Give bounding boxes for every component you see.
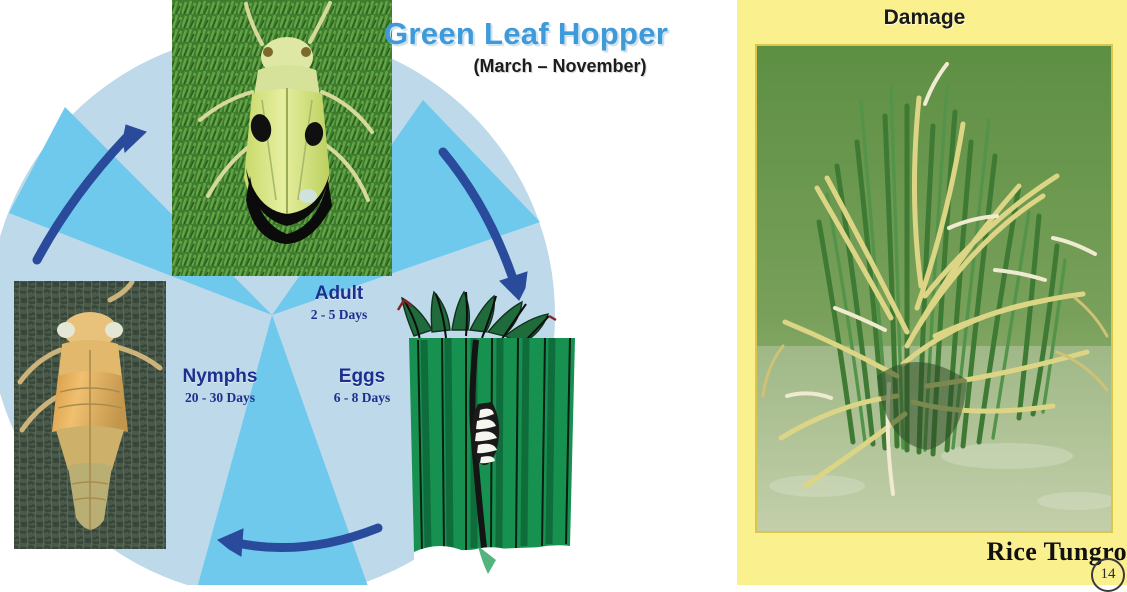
stage-name-nymphs: Nymphs: [168, 367, 272, 388]
damage-caption: Rice Tungro: [737, 537, 1127, 567]
page-title: Green Leaf Hopper: [384, 16, 737, 52]
rice-tungro-damage-photo: [755, 44, 1113, 533]
page-subtitle: (March – November): [384, 56, 736, 77]
stage-name-eggs: Eggs: [310, 367, 414, 388]
stage-label-nymphs: Nymphs 20 - 30 Days: [168, 367, 272, 406]
nymph-photo: [14, 281, 166, 549]
adult-leafhopper-photo: [172, 0, 392, 276]
damage-panel: Damage: [737, 0, 1127, 585]
stage-label-adult: Adult 2 - 5 Days: [287, 284, 391, 323]
life-cycle-panel: Adult 2 - 5 Days Nymphs 20 - 30 Days Egg…: [0, 0, 737, 585]
damage-heading: Damage: [737, 6, 1112, 30]
stage-name-adult: Adult: [287, 284, 391, 305]
page-number: 14: [1091, 558, 1125, 592]
stage-duration-eggs: 6 - 8 Days: [310, 390, 414, 406]
title-block: Green Leaf Hopper (March – November): [384, 16, 737, 77]
stage-duration-nymphs: 20 - 30 Days: [168, 390, 272, 406]
stage-duration-adult: 2 - 5 Days: [287, 307, 391, 323]
stage-label-eggs: Eggs 6 - 8 Days: [310, 367, 414, 406]
